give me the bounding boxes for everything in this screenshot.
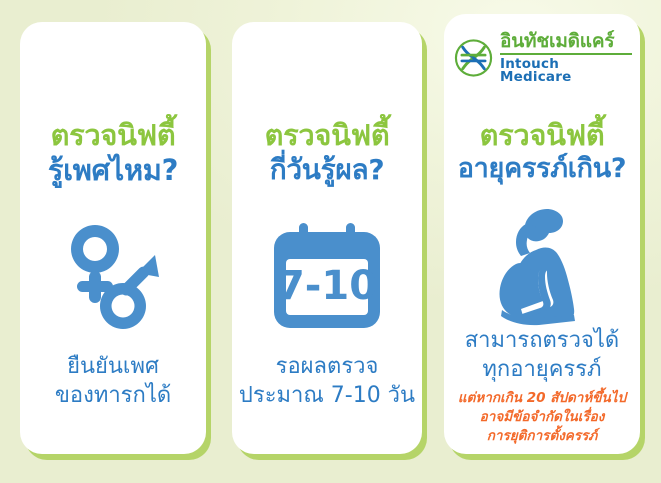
- intouch-medicare-circle-mark: [454, 38, 493, 78]
- card-1-footer-line-1: ยืนยันเพศ: [26, 352, 200, 381]
- card-result-time[interactable]: ตรวจนิฟตี้ กี่วันรู้ผล? 7-10 รอผลตรวจ ปร…: [232, 22, 422, 454]
- card-3-note-line-3: การยุติการตั้งครรภ์: [450, 427, 634, 446]
- logo-english-name: Intouch Medicare: [500, 58, 632, 85]
- card-2-title-blue: กี่วันรู้ผล?: [232, 153, 422, 187]
- card-1-title-green: ตรวจนิฟตี้: [20, 118, 206, 153]
- card-3-title-green: ตรวจนิฟตี้: [444, 118, 640, 153]
- card-gestational-age[interactable]: อินทัชเมดิแคร์ Intouch Medicare ตรวจนิฟต…: [444, 14, 640, 454]
- cards-board: ตรวจนิฟตี้ รู้เพศไหม? ยืนยันเพศ ของทารกไ: [0, 0, 661, 483]
- card-2-title: ตรวจนิฟตี้ กี่วันรู้ผล?: [232, 118, 422, 188]
- card-1-footer: ยืนยันเพศ ของทารกได้: [26, 352, 200, 410]
- logo-text: อินทัชเมดิแคร์ Intouch Medicare: [500, 32, 632, 85]
- card-2-footer-line-1: รอผลตรวจ: [238, 352, 416, 381]
- card-1-title: ตรวจนิฟตี้ รู้เพศไหม?: [20, 118, 206, 189]
- card-2-title-green: ตรวจนิฟตี้: [232, 118, 422, 153]
- calendar-value: 7-10: [277, 263, 377, 309]
- intouch-medicare-logo[interactable]: อินทัชเมดิแคร์ Intouch Medicare: [454, 30, 632, 86]
- card-3-title: ตรวจนิฟตี้ อายุครรภ์เกิน?: [444, 118, 640, 186]
- logo-thai-name: อินทัชเมดิแคร์: [500, 32, 632, 55]
- card-3-footer-line-1: สามารถตรวจได้: [450, 326, 634, 355]
- card-3-note: แต่หากเกิน 20 สัปดาห์ขึ้นไป อาจมีข้อจำกั…: [450, 389, 634, 446]
- card-3-title-blue: อายุครรภ์เกิน?: [444, 153, 640, 186]
- card-3-footer: สามารถตรวจได้ ทุกอายุครรภ์ แต่หากเกิน 20…: [450, 326, 634, 447]
- card-3-note-line-2: อาจมีข้อจำกัดในเรื่อง: [450, 408, 634, 427]
- calendar-icon: 7-10: [232, 220, 422, 334]
- card-1-footer-line-2: ของทารกได้: [26, 381, 200, 410]
- card-2-footer-line-2: ประมาณ 7-10 วัน: [238, 381, 416, 410]
- card-gender-detection[interactable]: ตรวจนิฟตี้ รู้เพศไหม? ยืนยันเพศ ของทารกไ: [20, 22, 206, 454]
- card-3-note-line-1: แต่หากเกิน 20 สัปดาห์ขึ้นไป: [450, 389, 634, 408]
- card-1-title-blue: รู้เพศไหม?: [20, 153, 206, 188]
- pregnant-woman-icon: [444, 204, 640, 328]
- card-2-footer: รอผลตรวจ ประมาณ 7-10 วัน: [238, 352, 416, 410]
- gender-symbols-icon: [20, 218, 206, 336]
- card-3-footer-line-2: ทุกอายุครรภ์: [450, 355, 634, 384]
